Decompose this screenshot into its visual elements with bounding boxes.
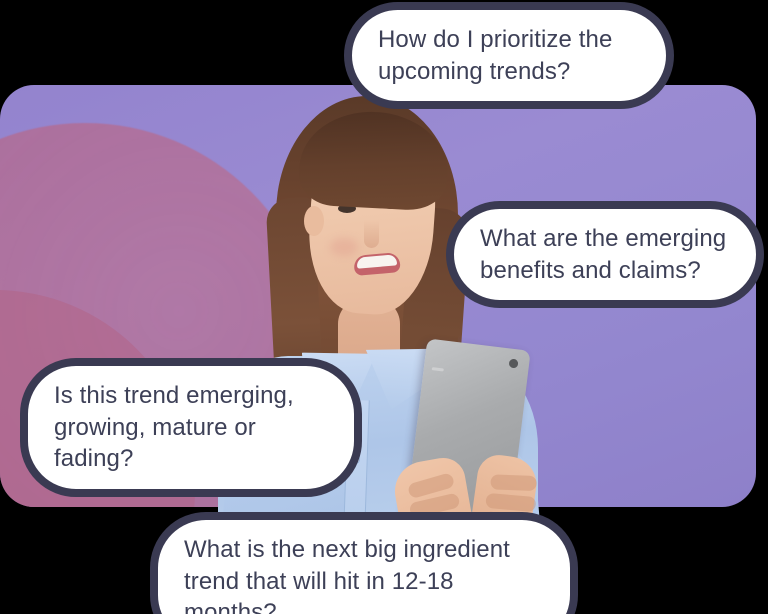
tablet-camera-icon <box>509 359 519 369</box>
speech-bubble-prioritize[interactable]: How do I prioritize the upcoming trends? <box>344 2 674 109</box>
tablet-antenna-line <box>432 367 444 371</box>
finger <box>490 474 536 491</box>
hero-illustration: How do I prioritize the upcoming trends?… <box>0 0 768 614</box>
finger <box>485 493 536 512</box>
teeth <box>356 254 397 268</box>
speech-bubble-ingredient[interactable]: What is the next big ingredient trend th… <box>150 512 578 614</box>
nose <box>364 220 379 248</box>
speech-bubble-lifecycle[interactable]: Is this trend emerging, growing, mature … <box>20 358 362 497</box>
cheek-blush <box>330 238 358 256</box>
mouth <box>353 252 401 276</box>
speech-bubble-benefits[interactable]: What are the emerging benefits and claim… <box>446 201 764 308</box>
ear <box>304 206 324 236</box>
